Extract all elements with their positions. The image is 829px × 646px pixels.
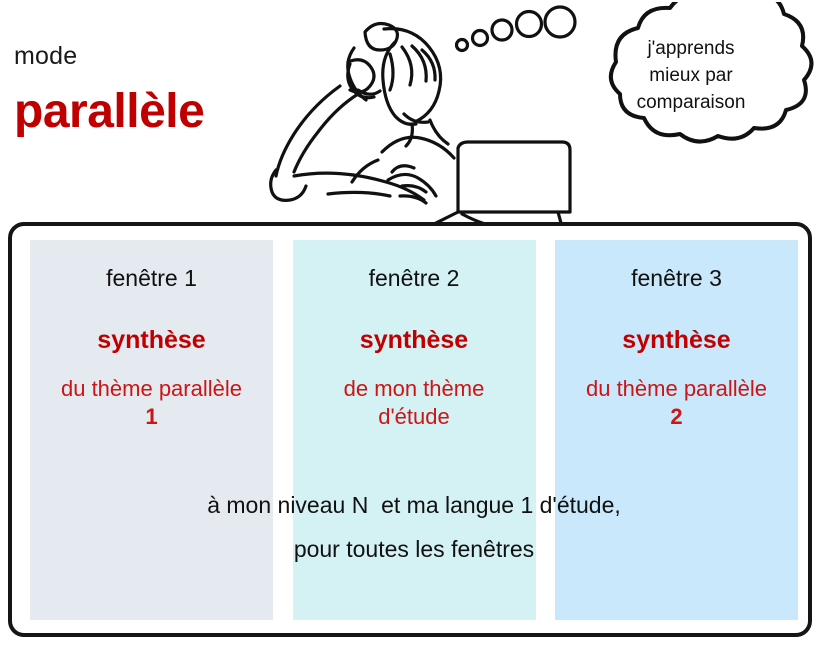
- thought-bubble-text: j'apprends mieux par comparaison: [596, 36, 786, 117]
- panel-desc-line-3: du thème parallèle: [555, 375, 798, 404]
- bubble-line-3: comparaison: [596, 90, 786, 117]
- panel-desc-emphasis-2: d'étude: [293, 403, 536, 432]
- bubble-line-1: j'apprends: [596, 36, 786, 63]
- panel-desc-emphasis-1: 1: [30, 403, 273, 432]
- panel-synthesis-label-3: synthèse: [555, 327, 798, 355]
- panel-title-3: fenêtre 3: [555, 266, 798, 291]
- panel-desc-emphasis-3: 2: [555, 403, 798, 432]
- panel-title-2: fenêtre 2: [293, 266, 536, 291]
- panel-description-2: de mon thème d'étude: [293, 375, 536, 432]
- panel-desc-line-2: de mon thème: [293, 375, 536, 404]
- person-studying-laptop-icon: [262, 2, 582, 222]
- window-panel-1[interactable]: fenêtre 1 synthèse du thème parallèle 1: [30, 240, 273, 620]
- panel-description-3: du thème parallèle 2: [555, 375, 798, 432]
- panel-synthesis-label-2: synthèse: [293, 327, 536, 355]
- page-title: parallèle: [14, 88, 204, 136]
- panel-title-1: fenêtre 1: [30, 266, 273, 291]
- header-area: mode parallèle: [0, 0, 829, 222]
- panel-desc-line-1: du thème parallèle: [30, 375, 273, 404]
- panels-row: fenêtre 1 synthèse du thème parallèle 1 …: [30, 240, 798, 620]
- bubble-line-2: mieux par: [596, 63, 786, 90]
- window-panel-2[interactable]: fenêtre 2 synthèse de mon thème d'étude: [293, 240, 536, 620]
- windows-container: fenêtre 1 synthèse du thème parallèle 1 …: [8, 222, 812, 637]
- mode-label: mode: [14, 44, 77, 69]
- panel-synthesis-label-1: synthèse: [30, 327, 273, 355]
- window-panel-3[interactable]: fenêtre 3 synthèse du thème parallèle 2: [555, 240, 798, 620]
- panel-description-1: du thème parallèle 1: [30, 375, 273, 432]
